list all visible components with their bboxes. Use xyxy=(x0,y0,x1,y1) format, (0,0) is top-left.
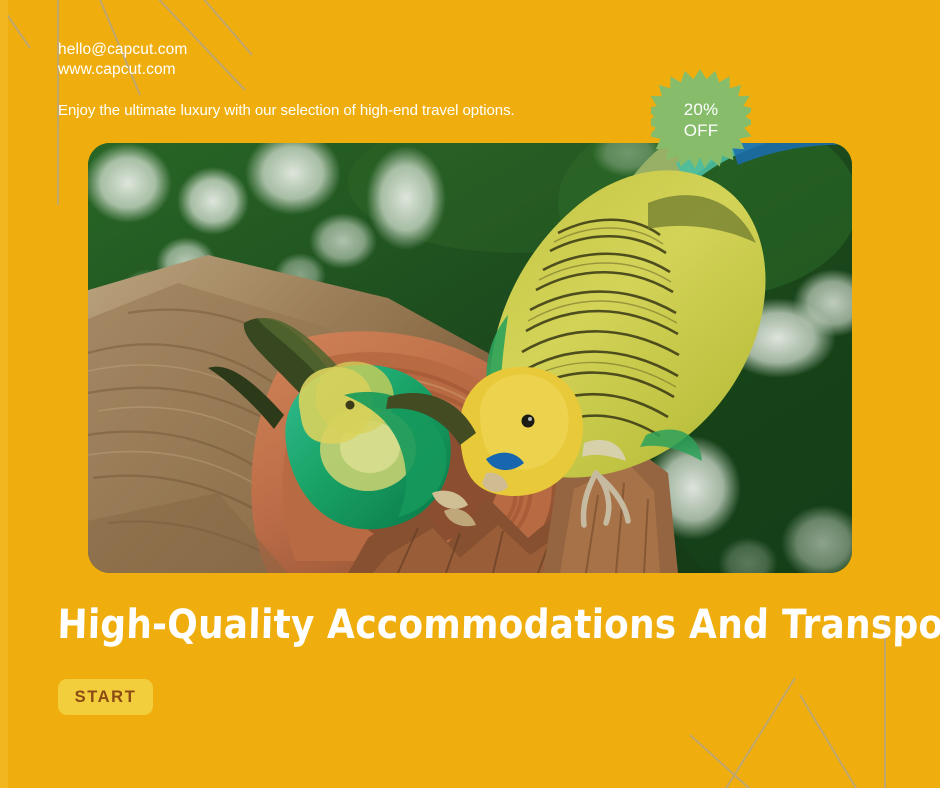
badge-text-group: 20% OFF xyxy=(651,67,751,173)
badge-percent: 20% xyxy=(684,99,719,120)
discount-badge: 20% OFF xyxy=(651,67,751,173)
contact-block: hello@capcut.com www.capcut.com xyxy=(58,40,187,80)
left-edge-strip xyxy=(0,0,8,788)
budgerigar-nest-photo-icon xyxy=(88,143,852,573)
contact-email[interactable]: hello@capcut.com xyxy=(58,40,187,60)
poster-canvas: hello@capcut.com www.capcut.com Enjoy th… xyxy=(0,0,940,788)
page-title: High-Quality Accommodations And Transpor… xyxy=(57,600,940,652)
badge-off-label: OFF xyxy=(684,120,719,141)
hero-photo xyxy=(88,143,852,573)
tagline-text: Enjoy the ultimate luxury with our selec… xyxy=(58,102,515,119)
contact-website[interactable]: www.capcut.com xyxy=(58,60,187,80)
start-button[interactable]: START xyxy=(58,679,153,715)
